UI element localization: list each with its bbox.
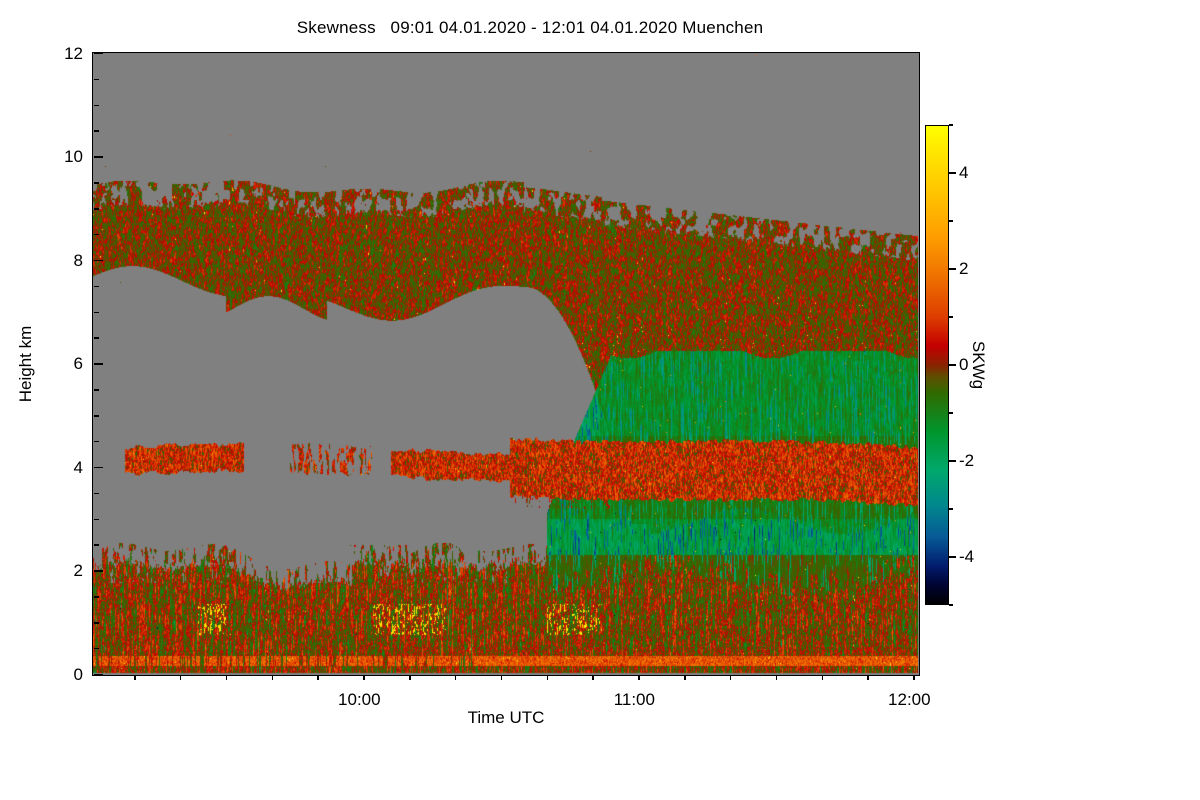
y-tick-label: 4 (74, 458, 83, 478)
colorbar-tick-minor (949, 508, 953, 510)
y-tick-major (94, 156, 103, 158)
x-tick-minor (363, 675, 365, 680)
y-tick-minor (94, 389, 99, 391)
colorbar-title: SKWg (968, 341, 988, 389)
y-tick-major (94, 260, 103, 262)
colorbar-tick-major (949, 556, 956, 558)
colorbar (925, 125, 949, 605)
x-tick-minor (776, 675, 778, 680)
x-tick-minor (592, 675, 594, 680)
colorbar-gradient (925, 125, 949, 605)
x-tick-label: 10:00 (338, 690, 381, 710)
x-tick-minor (501, 675, 503, 680)
colorbar-tick-minor (949, 604, 953, 606)
y-tick-major (94, 570, 103, 572)
y-tick-minor (94, 312, 99, 314)
y-tick-minor (94, 79, 99, 81)
colorbar-tick-minor (949, 220, 953, 222)
y-tick-minor (94, 519, 99, 521)
x-tick-minor (822, 675, 824, 680)
y-tick-minor (94, 286, 99, 288)
y-tick-minor (94, 622, 99, 624)
y-tick-minor (94, 105, 99, 107)
y-tick-minor (94, 544, 99, 546)
colorbar-tick-minor (949, 124, 953, 126)
y-tick-major (94, 674, 103, 676)
x-tick-minor (684, 675, 686, 680)
x-tick-minor (730, 675, 732, 680)
y-tick-minor (94, 596, 99, 598)
page-title: Skewness 09:01 04.01.2020 - 12:01 04.01.… (0, 18, 1060, 38)
skewness-heatmap (93, 53, 918, 674)
x-tick-minor (638, 675, 640, 680)
colorbar-tick-minor (949, 316, 953, 318)
y-tick-minor (94, 441, 99, 443)
y-tick-minor (94, 130, 99, 132)
colorbar-tick-label: -2 (959, 451, 974, 471)
y-tick-minor (94, 337, 99, 339)
x-tick-minor (226, 675, 228, 680)
x-tick-minor (455, 675, 457, 680)
y-tick-label: 2 (74, 561, 83, 581)
y-axis-title: Height km (16, 326, 36, 403)
colorbar-tick-label: -4 (959, 547, 974, 567)
x-tick-minor (134, 675, 136, 680)
colorbar-tick-major (949, 460, 956, 462)
y-tick-minor (94, 234, 99, 236)
y-tick-minor (94, 182, 99, 184)
x-tick-minor (272, 675, 274, 680)
y-tick-minor (94, 493, 99, 495)
y-tick-major (94, 53, 103, 55)
x-tick-minor (317, 675, 319, 680)
x-tick-minor (180, 675, 182, 680)
y-tick-label: 0 (74, 665, 83, 685)
plot-page: Skewness 09:01 04.01.2020 - 12:01 04.01.… (0, 0, 1200, 800)
y-tick-minor (94, 648, 99, 650)
y-tick-minor (94, 415, 99, 417)
heatmap-plot-area (92, 52, 920, 676)
colorbar-tick-minor (949, 412, 953, 414)
colorbar-tick-major (949, 364, 956, 366)
x-tick-minor (913, 675, 915, 680)
x-axis-title: Time UTC (468, 708, 545, 728)
y-tick-minor (94, 208, 99, 210)
x-tick-minor (867, 675, 869, 680)
y-tick-label: 8 (74, 251, 83, 271)
colorbar-tick-major (949, 268, 956, 270)
y-tick-major (94, 467, 103, 469)
x-tick-minor (547, 675, 549, 680)
y-tick-label: 6 (74, 354, 83, 374)
y-tick-major (94, 363, 103, 365)
y-tick-label: 10 (64, 147, 83, 167)
x-tick-minor (409, 675, 411, 680)
colorbar-tick-label: 2 (959, 259, 968, 279)
x-tick-label: 11:00 (614, 690, 655, 710)
colorbar-tick-major (949, 172, 956, 174)
colorbar-tick-label: 4 (959, 163, 968, 183)
x-tick-label: 12:00 (888, 690, 931, 710)
y-tick-label: 12 (64, 44, 83, 64)
